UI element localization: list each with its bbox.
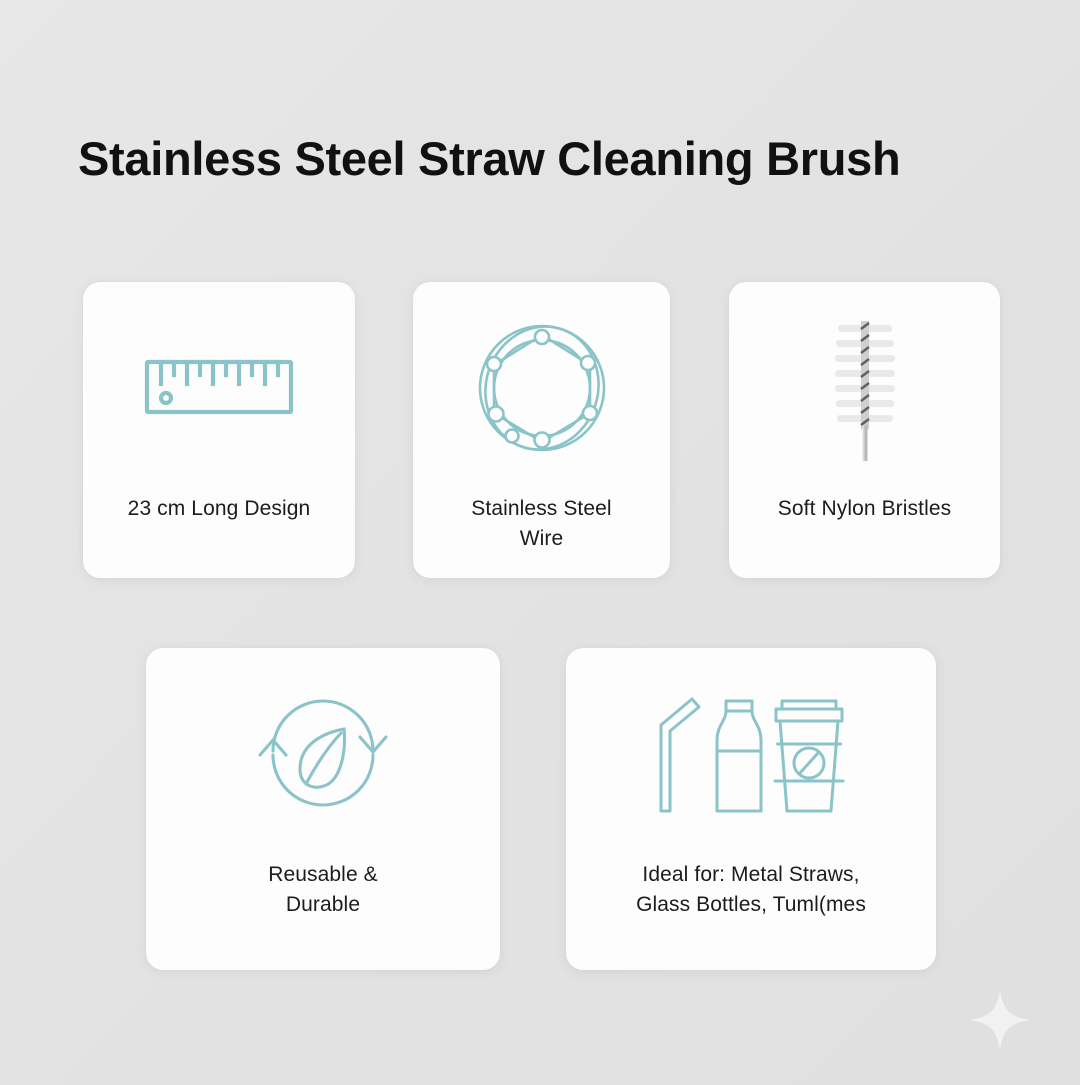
ruler-icon <box>83 282 355 494</box>
recycle-leaf-icon <box>146 648 500 860</box>
feature-card-reusable: Reusable & Durable <box>146 648 500 970</box>
wire-ring-icon <box>413 282 670 494</box>
feature-card-idealfor: Ideal for: Metal Straws, Glass Bottles, … <box>566 648 936 970</box>
cleaning-brush-icon <box>729 282 1000 494</box>
feature-label-bristles: Soft Nylon Bristles <box>768 494 961 524</box>
feature-label-wire: Stainless Steel Wire <box>461 494 621 554</box>
page-title: Stainless Steel Straw Cleaning Brush <box>78 133 900 185</box>
drinkware-icon <box>566 648 936 860</box>
feature-label-length: 23 cm Long Design <box>118 494 321 524</box>
feature-card-wire: Stainless Steel Wire <box>413 282 670 578</box>
infographic-page: Stainless Steel Straw Cleaning Brush 23 … <box>0 0 1080 1085</box>
feature-label-idealfor: Ideal for: Metal Straws, Glass Bottles, … <box>626 860 876 920</box>
feature-card-bristles: Soft Nylon Bristles <box>729 282 1000 578</box>
feature-label-reusable: Reusable & Durable <box>258 860 388 920</box>
sparkle-icon <box>968 988 1032 1052</box>
feature-card-length: 23 cm Long Design <box>83 282 355 578</box>
